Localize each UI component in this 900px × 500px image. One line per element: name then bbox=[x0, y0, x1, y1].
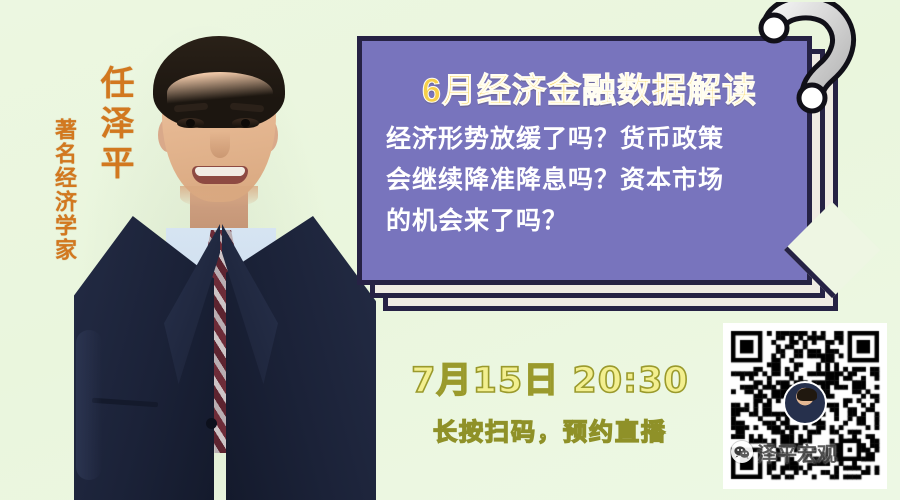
speaker-credential: 著名经济学家 bbox=[48, 118, 80, 262]
speaker-name: 任泽平 bbox=[90, 65, 139, 185]
wechat-icon bbox=[731, 441, 753, 463]
portrait-jacket-button bbox=[206, 418, 217, 429]
headline-subtitle-line-3: 的机会来了吗？ bbox=[386, 201, 798, 242]
portrait-nose bbox=[210, 132, 230, 158]
qr-code[interactable]: 泽平宏观 bbox=[723, 323, 887, 489]
headline-subtitle: 经济形势放缓了吗？货币政策 会继续降准降息吗？资本市场 的机会来了吗？ bbox=[386, 119, 798, 242]
portrait-teeth bbox=[195, 167, 245, 176]
qr-watermark: 泽平宏观 bbox=[731, 435, 881, 469]
qr-avatar-hair bbox=[797, 388, 817, 401]
headline-subtitle-line-1: 经济形势放缓了吗？货币政策 bbox=[386, 119, 798, 160]
qr-account-name: 泽平宏观 bbox=[757, 438, 837, 467]
qr-center-avatar bbox=[783, 381, 827, 425]
portrait-shoulders bbox=[80, 214, 360, 254]
portrait-mouth bbox=[192, 166, 248, 184]
scan-cta-text: 长按扫码，预约直播 bbox=[390, 412, 710, 447]
portrait-arm bbox=[76, 330, 102, 480]
headline-subtitle-line-2: 会继续降准降息吗？资本市场 bbox=[386, 160, 798, 201]
portrait-eye-left bbox=[177, 118, 204, 128]
schedule-block: 7月15日 20:30 长按扫码，预约直播 bbox=[390, 352, 710, 447]
portrait-eye-right bbox=[232, 118, 259, 128]
portrait-chin bbox=[180, 186, 258, 208]
broadcast-datetime: 7月15日 20:30 bbox=[390, 352, 710, 403]
poster-canvas: 任泽平 著名经济学家 6月经济金融数据解读 经济形势放缓了吗？货币政策 会继续降… bbox=[0, 0, 900, 500]
question-mark-icon bbox=[748, 2, 866, 114]
portrait-jacket-right bbox=[226, 216, 376, 500]
card-layer-front: 6月经济金融数据解读 经济形势放缓了吗？货币政策 会继续降准降息吗？资本市场 的… bbox=[357, 36, 812, 285]
